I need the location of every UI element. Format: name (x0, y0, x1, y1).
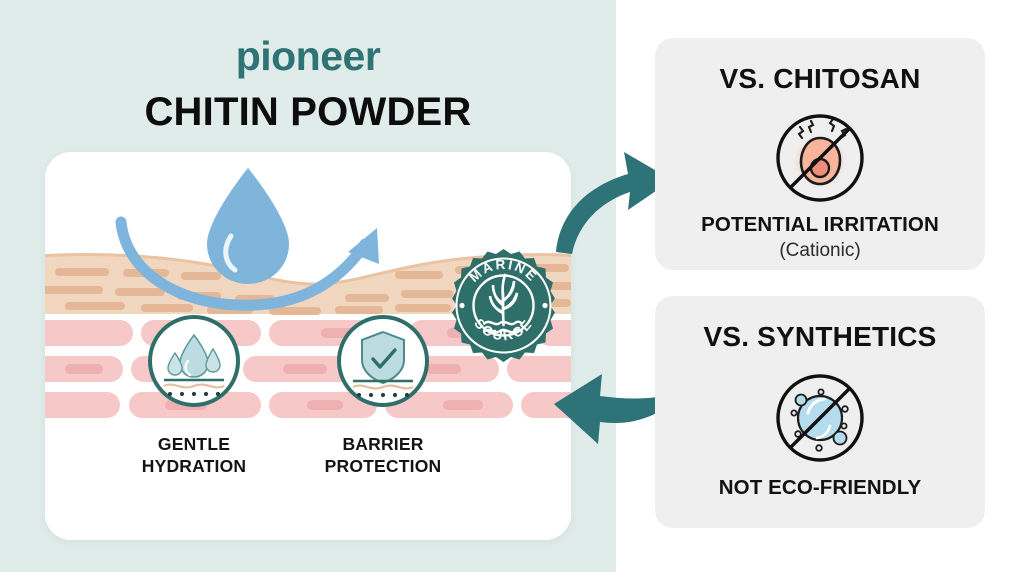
crossed-out-microbeads-icon (770, 368, 870, 468)
comparison-panel-synthetics: VS. SYNTHETICS NOT ECO-FRIENDLY (655, 296, 985, 528)
comparison-panel-chitosan: VS. CHITOSAN POTENTIAL IRRITATION (655, 38, 985, 270)
panel-caption: POTENTIAL IRRITATION (655, 215, 985, 236)
feature-label-line-1: BARRIER (288, 433, 478, 455)
panel-caption: NOT ECO-FRIENDLY (655, 478, 985, 499)
marine-source-seal: MARINE SOURCE (445, 247, 562, 364)
panel-title: VS. SYNTHETICS (655, 323, 985, 351)
feature-label-line-2: PROTECTION (288, 455, 478, 477)
feature-label-barrier-protection: BARRIER PROTECTION (288, 433, 478, 478)
feature-label-line-1: GENTLE (99, 433, 289, 455)
feature-label-line-2: HYDRATION (99, 455, 289, 477)
infographic-canvas: pioneer CHITIN POWDER (0, 0, 1024, 572)
feature-badge-barrier-protection (337, 315, 429, 407)
water-droplets-on-skin-icon (152, 319, 236, 403)
feature-badge-gentle-hydration (148, 315, 240, 407)
crossed-out-irritated-cell-icon (770, 108, 870, 208)
feature-label-gentle-hydration: GENTLE HYDRATION (99, 433, 289, 478)
shield-check-on-skin-icon (341, 319, 425, 403)
page-title: CHITIN POWDER (0, 92, 616, 132)
brand-title: pioneer (0, 36, 616, 77)
panel-subcaption: (Cationic) (655, 241, 985, 260)
panel-title: VS. CHITOSAN (655, 65, 985, 93)
